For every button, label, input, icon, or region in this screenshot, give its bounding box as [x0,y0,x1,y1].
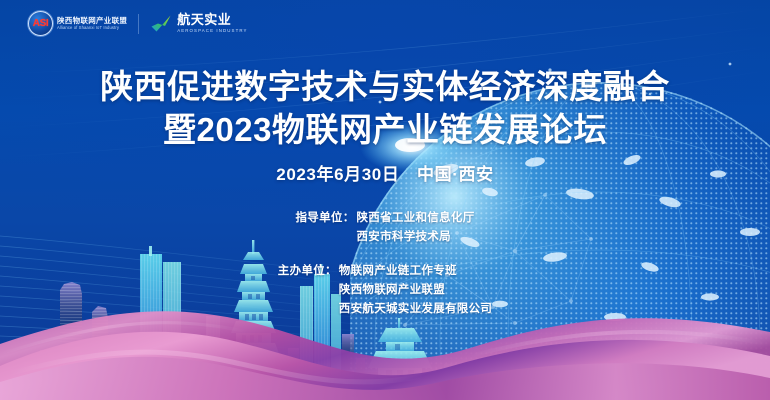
aerospace-wordmark: 航天实业 AEROSPACE INDUSTRY [177,13,247,33]
aerospace-name-en: AEROSPACE INDUSTRY [177,29,247,34]
sponsor-logo-bar: ASI 陕西物联网产业联盟 Alliance of Shaanxi IoT In… [28,11,248,36]
organizer-item: 陕西物联网产业联盟 [339,281,492,300]
asi-alliance-emblem-icon: ASI [28,11,53,36]
organizer-item: 物联网产业链工作专班 [339,262,492,281]
organizer-label-guidance: 指导单位： [296,209,355,228]
aerospace-checkmark-icon [150,14,172,34]
light-rays-decoration [0,0,770,400]
organizer-values-host: 物联网产业链工作专班 陕西物联网产业联盟 西安航天城实业发展有限公司 [339,262,492,318]
page-title-line-2: 暨2023物联网产业链发展论坛 [0,109,770,152]
poster-title: 陕西促进数字技术与实体经济深度融合 暨2023物联网产业链发展论坛 [0,66,770,152]
organizer-block-guidance: 指导单位： 陕西省工业和信息化厅 西安市科学技术局 [0,209,770,246]
asi-badge-text: ASI [33,18,48,29]
organizer-sections: 指导单位： 陕西省工业和信息化厅 西安市科学技术局 主办单位： 物联网产业链工作… [0,209,770,318]
asi-alliance-name-en: Alliance of Shaanxi IoT Industry [57,26,127,30]
organizer-label-host: 主办单位： [278,262,337,281]
page-title-line-1: 陕西促进数字技术与实体经济深度融合 [0,66,770,109]
organizer-item: 陕西省工业和信息化厅 [357,209,475,228]
organizer-block-host: 主办单位： 物联网产业链工作专班 陕西物联网产业联盟 西安航天城实业发展有限公司 [0,262,770,318]
organizer-item: 西安航天城实业发展有限公司 [339,300,492,319]
aerospace-name-cn: 航天实业 [177,13,247,27]
organizer-item: 西安市科学技术局 [357,228,475,247]
poster-canvas: ASI 陕西物联网产业联盟 Alliance of Shaanxi IoT In… [0,0,770,400]
organizer-values-guidance: 陕西省工业和信息化厅 西安市科学技术局 [357,209,475,246]
asi-alliance-wordmark: 陕西物联网产业联盟 Alliance of Shaanxi IoT Indust… [57,17,127,31]
asi-alliance-name-cn: 陕西物联网产业联盟 [57,17,127,25]
event-date-location: 2023年6月30日 中国·西安 [0,160,770,185]
logo-divider [138,14,139,34]
